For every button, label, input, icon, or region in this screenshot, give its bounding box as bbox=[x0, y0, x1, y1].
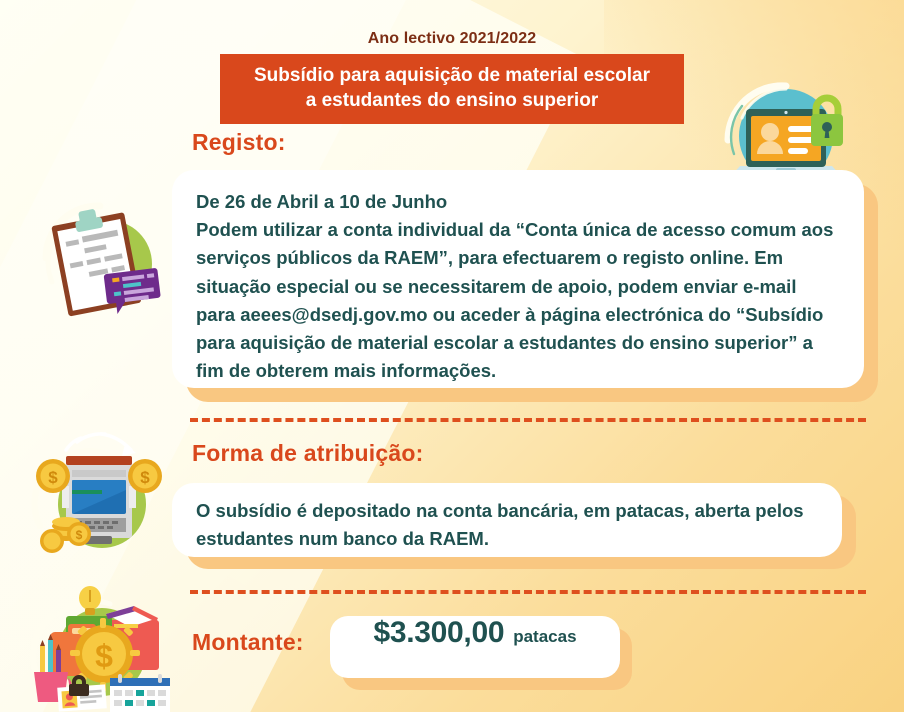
poster-title-line1: Subsídio para aquisição de material esco… bbox=[230, 63, 674, 88]
svg-text:$: $ bbox=[76, 528, 83, 542]
svg-text:$: $ bbox=[140, 468, 150, 487]
school-year-label: Ano lectivo 2021/2022 bbox=[0, 30, 904, 48]
registo-body-text: De 26 de Abril a 10 de Junho Podem utili… bbox=[196, 188, 840, 385]
forma-body-text: O subsídio é depositado na conta bancári… bbox=[196, 497, 818, 553]
section-heading-registo: Registo: bbox=[192, 129, 286, 156]
poster-canvas: Ano lectivo 2021/2022 Subsídio para aqui… bbox=[0, 0, 904, 712]
section-heading-montante: Montante: bbox=[192, 629, 304, 656]
atm-coins-icon: $ $ $ bbox=[22, 426, 176, 564]
montante-card: $3.300,00 patacas bbox=[330, 616, 620, 678]
registo-paragraph: Podem utilizar a conta individual da “Co… bbox=[196, 216, 840, 385]
poster-title-line2: a estudantes do ensino superior bbox=[230, 88, 674, 113]
section-heading-forma: Forma de atribuição: bbox=[192, 440, 423, 467]
svg-text:$: $ bbox=[95, 638, 113, 674]
poster-title-banner: Subsídio para aquisição de material esco… bbox=[220, 54, 684, 124]
forma-card: O subsídio é depositado na conta bancári… bbox=[172, 483, 842, 557]
divider-registo-forma bbox=[190, 418, 866, 422]
registo-card: De 26 de Abril a 10 de Junho Podem utili… bbox=[172, 170, 864, 388]
clipboard-form-icon bbox=[30, 186, 180, 322]
amount-row: $3.300,00 patacas bbox=[330, 616, 620, 678]
divider-forma-montante bbox=[190, 590, 866, 594]
amount-value: $3.300,00 bbox=[373, 616, 504, 650]
registo-date-range: De 26 de Abril a 10 de Junho bbox=[196, 188, 840, 216]
amount-currency-unit: patacas bbox=[513, 627, 576, 647]
school-supplies-icon: $ bbox=[14, 582, 180, 712]
svg-text:$: $ bbox=[48, 468, 58, 487]
